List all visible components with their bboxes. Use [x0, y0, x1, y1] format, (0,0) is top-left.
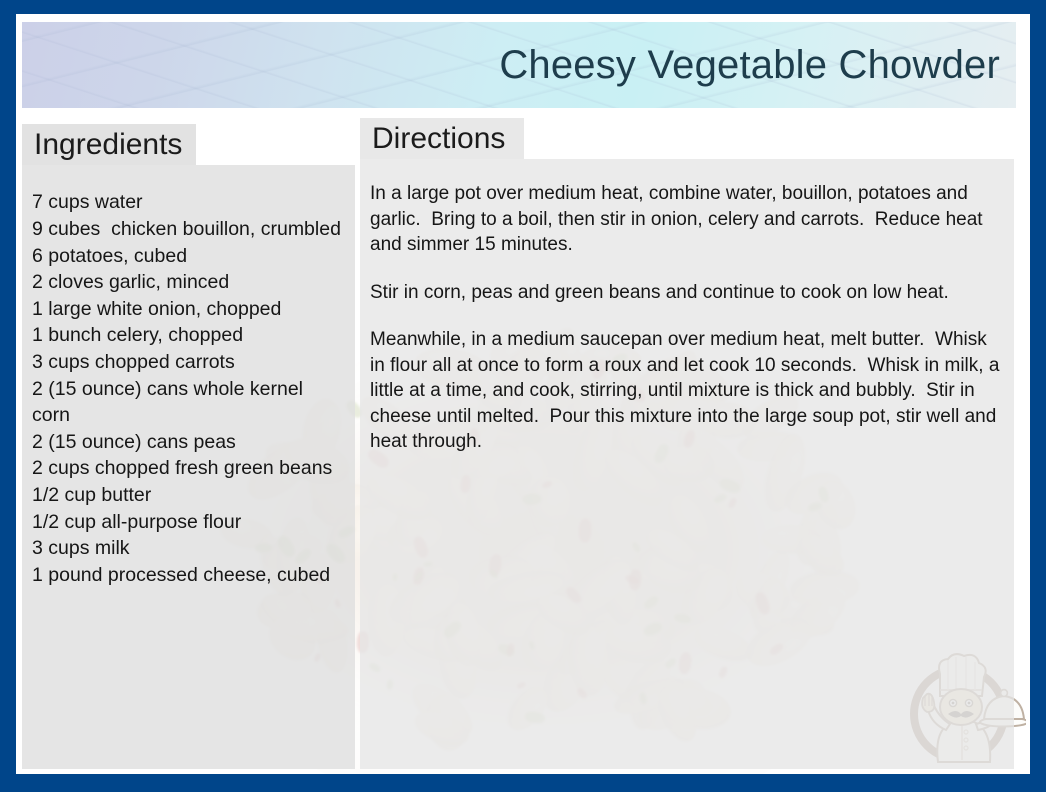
ingredient-item: 1 large white onion, chopped — [32, 296, 345, 323]
direction-paragraph: Stir in corn, peas and green beans and c… — [370, 280, 1000, 306]
ingredient-item: 3 cups milk — [32, 535, 345, 562]
ingredient-item: 1 pound processed cheese, cubed — [32, 562, 345, 589]
ingredient-item: 3 cups chopped carrots — [32, 349, 345, 376]
directions-heading: Directions — [372, 123, 510, 155]
ingredient-item: 1 bunch celery, chopped — [32, 322, 345, 349]
border-bottom — [0, 774, 1046, 792]
ingredient-item: 1/2 cup all-purpose flour — [32, 509, 345, 536]
border-left — [0, 0, 16, 792]
direction-paragraph: Meanwhile, in a medium saucepan over med… — [370, 327, 1000, 455]
border-right — [1030, 0, 1046, 792]
ingredients-tab: Ingredients — [22, 124, 196, 165]
directions-tab: Directions — [360, 118, 524, 159]
recipe-card: Cheesy Vegetable Chowder Ingredients 7 c… — [0, 0, 1046, 792]
page-title: Cheesy Vegetable Chowder — [499, 43, 1000, 88]
ingredient-item: 7 cups water — [32, 189, 345, 216]
title-banner: Cheesy Vegetable Chowder — [22, 22, 1016, 108]
directions-body: In a large pot over medium heat, combine… — [370, 181, 1000, 455]
directions-panel: In a large pot over medium heat, combine… — [360, 159, 1014, 769]
ingredient-item: 1/2 cup butter — [32, 482, 345, 509]
ingredients-column: Ingredients 7 cups water9 cubes chicken … — [22, 124, 355, 769]
ingredient-item: 9 cubes chicken bouillon, crumbled — [32, 216, 345, 243]
ingredients-panel: 7 cups water9 cubes chicken bouillon, cr… — [22, 165, 355, 769]
ingredients-heading: Ingredients — [34, 129, 182, 161]
ingredient-item: 2 cups chopped fresh green beans — [32, 455, 345, 482]
direction-paragraph: In a large pot over medium heat, combine… — [370, 181, 1000, 258]
ingredient-item: 6 potatoes, cubed — [32, 243, 345, 270]
ingredients-list: 7 cups water9 cubes chicken bouillon, cr… — [32, 189, 345, 588]
directions-column: Directions In a large pot over medium he… — [360, 118, 1014, 769]
ingredient-item: 2 (15 ounce) cans peas — [32, 429, 345, 456]
ingredient-item: 2 (15 ounce) cans whole kernel corn — [32, 376, 345, 429]
border-top — [0, 0, 1046, 14]
ingredient-item: 2 cloves garlic, minced — [32, 269, 345, 296]
